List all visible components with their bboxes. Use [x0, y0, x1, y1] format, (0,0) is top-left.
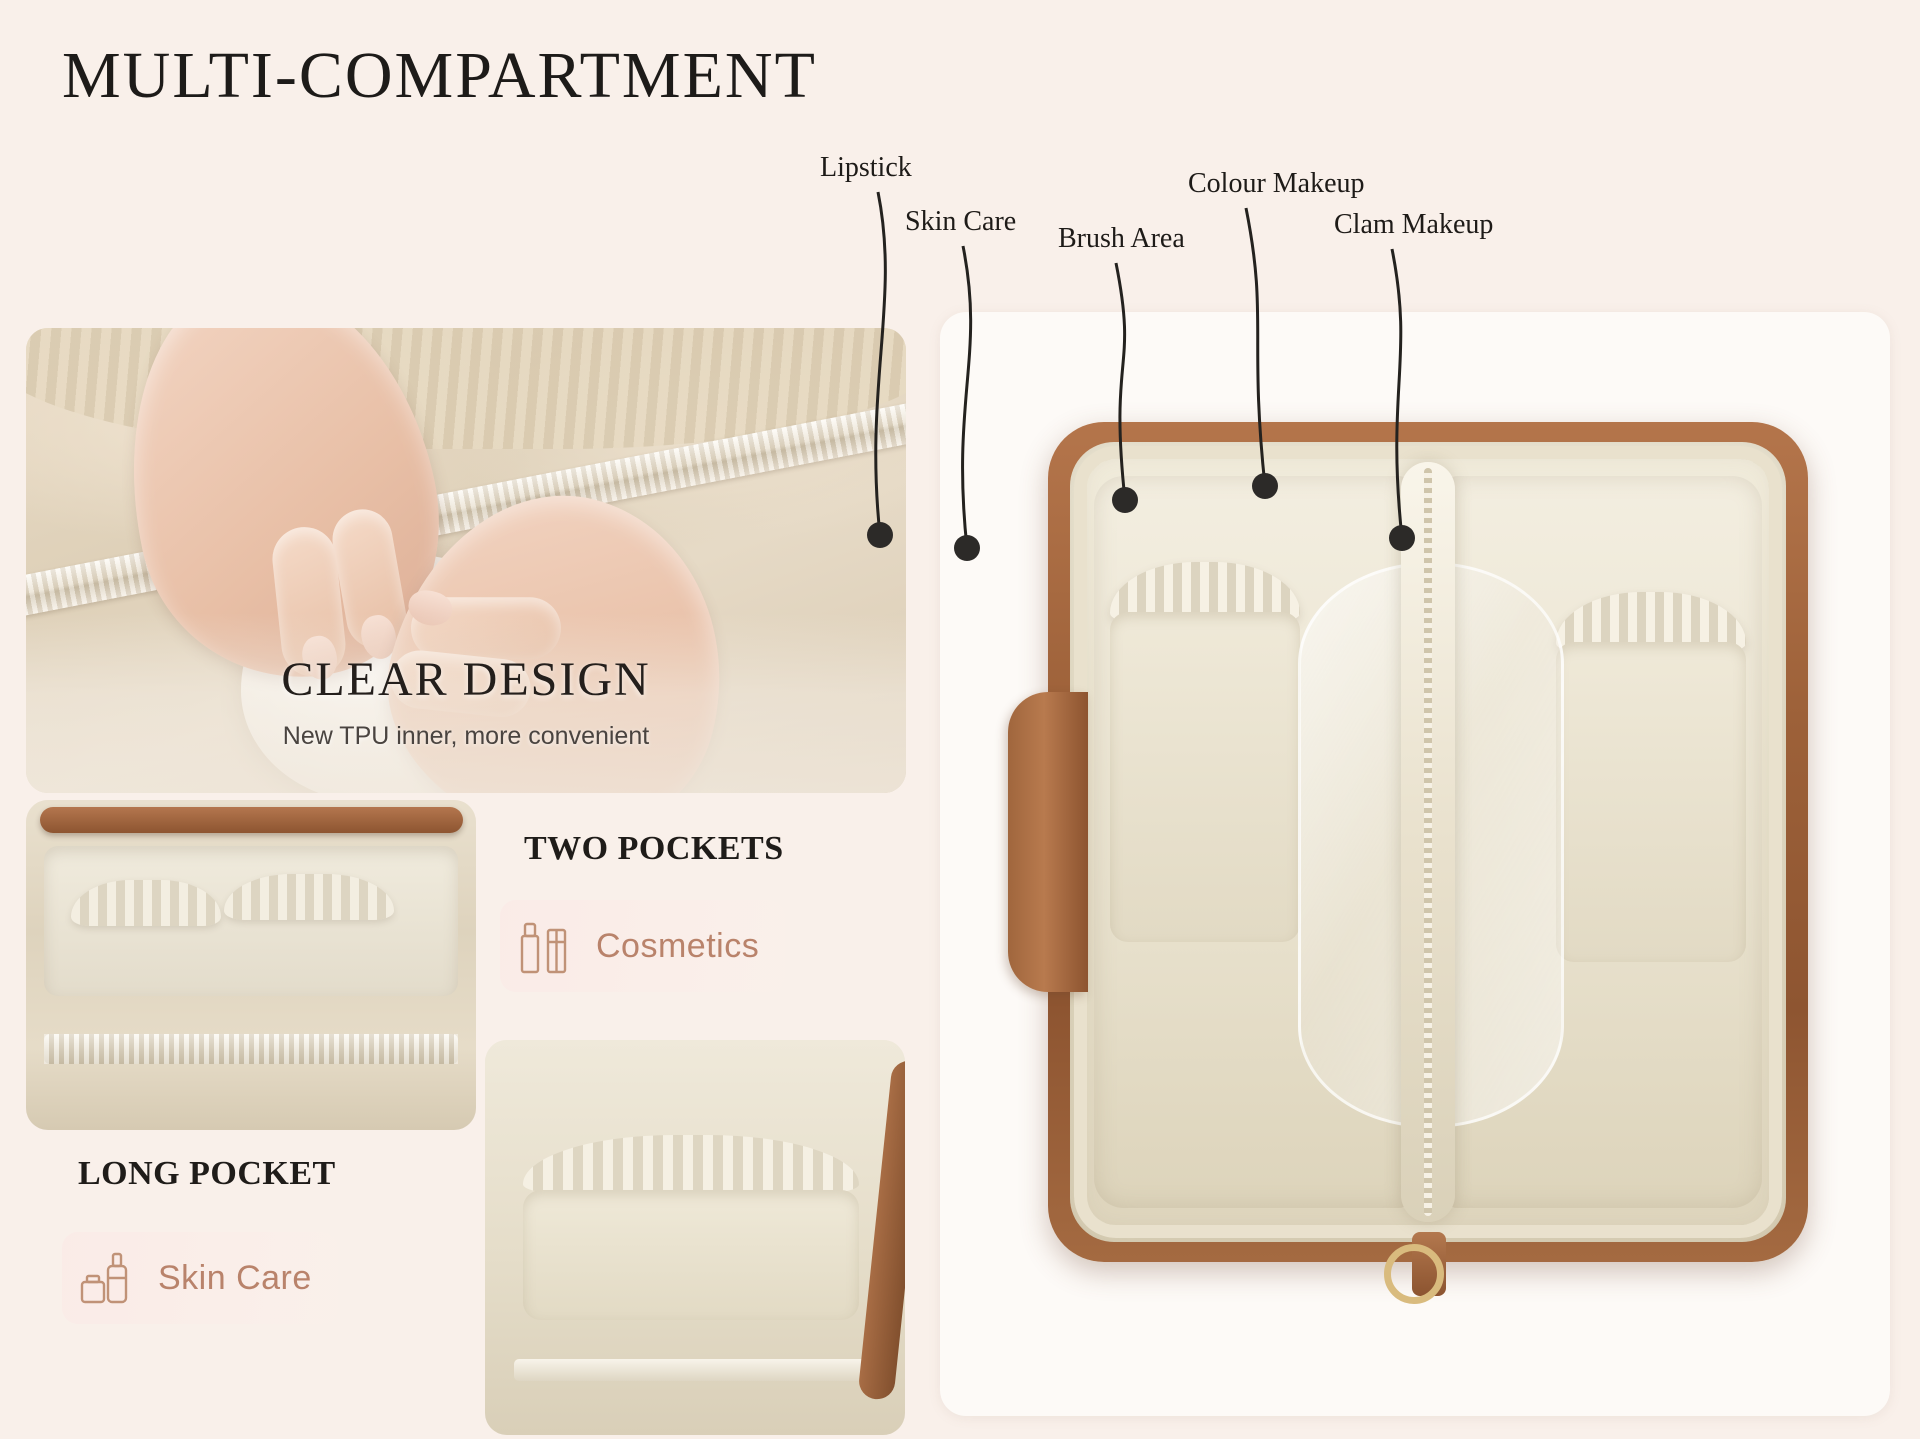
- callout-label-brush-area: Brush Area: [1058, 223, 1185, 255]
- long-pocket-photo: [26, 800, 476, 1130]
- brown-zipper-trim: [40, 807, 463, 833]
- center-divider-zipper: [1401, 462, 1455, 1222]
- carry-handle: [1008, 692, 1088, 992]
- callout-label-lipstick: Lipstick: [820, 152, 912, 184]
- clear-design-title: CLEAR DESIGN: [26, 652, 906, 707]
- callout-dot-lipstick: [867, 522, 893, 548]
- two-pockets-title: TWO POCKETS: [524, 830, 784, 868]
- bag-interior-panel: [940, 312, 1890, 1416]
- skin-care-chip-label: Skin Care: [158, 1259, 312, 1298]
- bag-outer-shell: [1048, 422, 1808, 1262]
- lotion-bottles-icon: [78, 1246, 140, 1310]
- callout-label-skin-care: Skin Care: [905, 206, 1016, 238]
- callout-label-clam-makeup: Clam Makeup: [1334, 209, 1493, 241]
- right-mesh-pocket: [1556, 642, 1746, 962]
- inner-zipper: [44, 1034, 458, 1064]
- mesh-pocket-photo: [485, 1040, 905, 1435]
- inner-seam: [514, 1359, 867, 1381]
- cosmetics-chip-label: Cosmetics: [596, 927, 759, 966]
- skin-care-chip: Skin Care: [62, 1232, 338, 1324]
- mesh-pocket: [523, 1190, 859, 1320]
- zipper-ring: [1384, 1244, 1444, 1304]
- callout-label-colour-makeup: Colour Makeup: [1188, 168, 1365, 200]
- callout-dot-clam-makeup: [1389, 525, 1415, 551]
- left-mesh-pocket: [1110, 612, 1300, 942]
- lipstick-and-compact-icon: [516, 914, 578, 978]
- callout-dot-skin-care: [954, 535, 980, 561]
- page-title: MULTI-COMPARTMENT: [62, 38, 817, 114]
- callout-dot-brush-area: [1112, 487, 1138, 513]
- clear-design-photo-card: CLEAR DESIGN New TPU inner, more conveni…: [26, 328, 906, 793]
- bag-lining: [1070, 442, 1786, 1242]
- cosmetics-chip: Cosmetics: [500, 900, 785, 992]
- clear-design-subtitle: New TPU inner, more convenient: [26, 722, 906, 751]
- callout-dot-colour-makeup: [1252, 473, 1278, 499]
- open-cosmetic-bag-photo: [1000, 422, 1830, 1302]
- long-pocket-title: LONG POCKET: [78, 1155, 336, 1193]
